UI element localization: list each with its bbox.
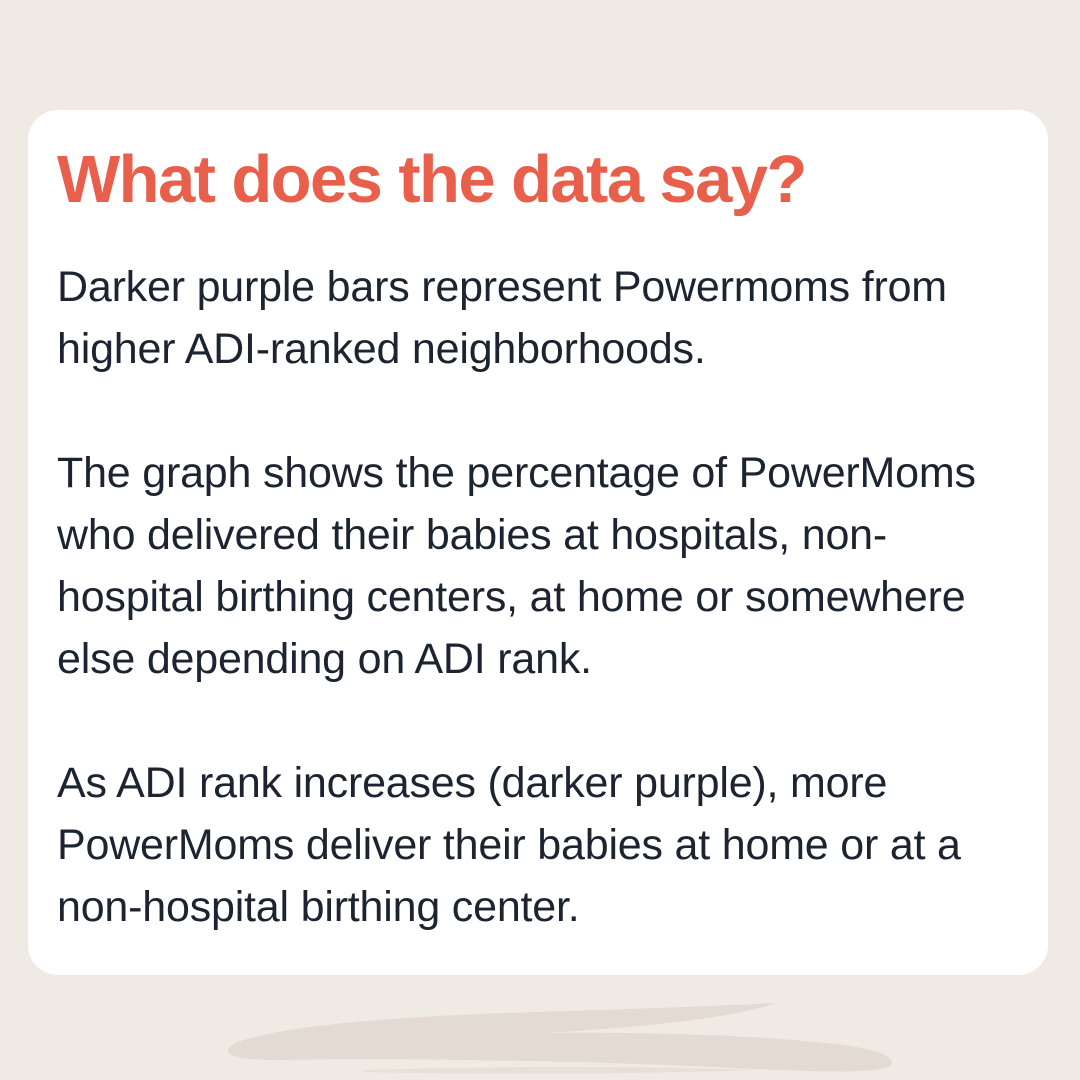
content-card: What does the data say? Darker purple ba…	[28, 110, 1048, 975]
slide-canvas: What does the data say? Darker purple ba…	[0, 0, 1080, 1080]
paragraph-2: The graph shows the percentage of PowerM…	[57, 442, 1007, 690]
paragraph-1: Darker purple bars represent Powermoms f…	[57, 256, 1007, 380]
paragraph-3: As ADI rank increases (darker purple), m…	[57, 752, 1007, 938]
brush-stroke-swoosh-icon	[215, 1000, 905, 1076]
page-title: What does the data say?	[57, 146, 1018, 214]
